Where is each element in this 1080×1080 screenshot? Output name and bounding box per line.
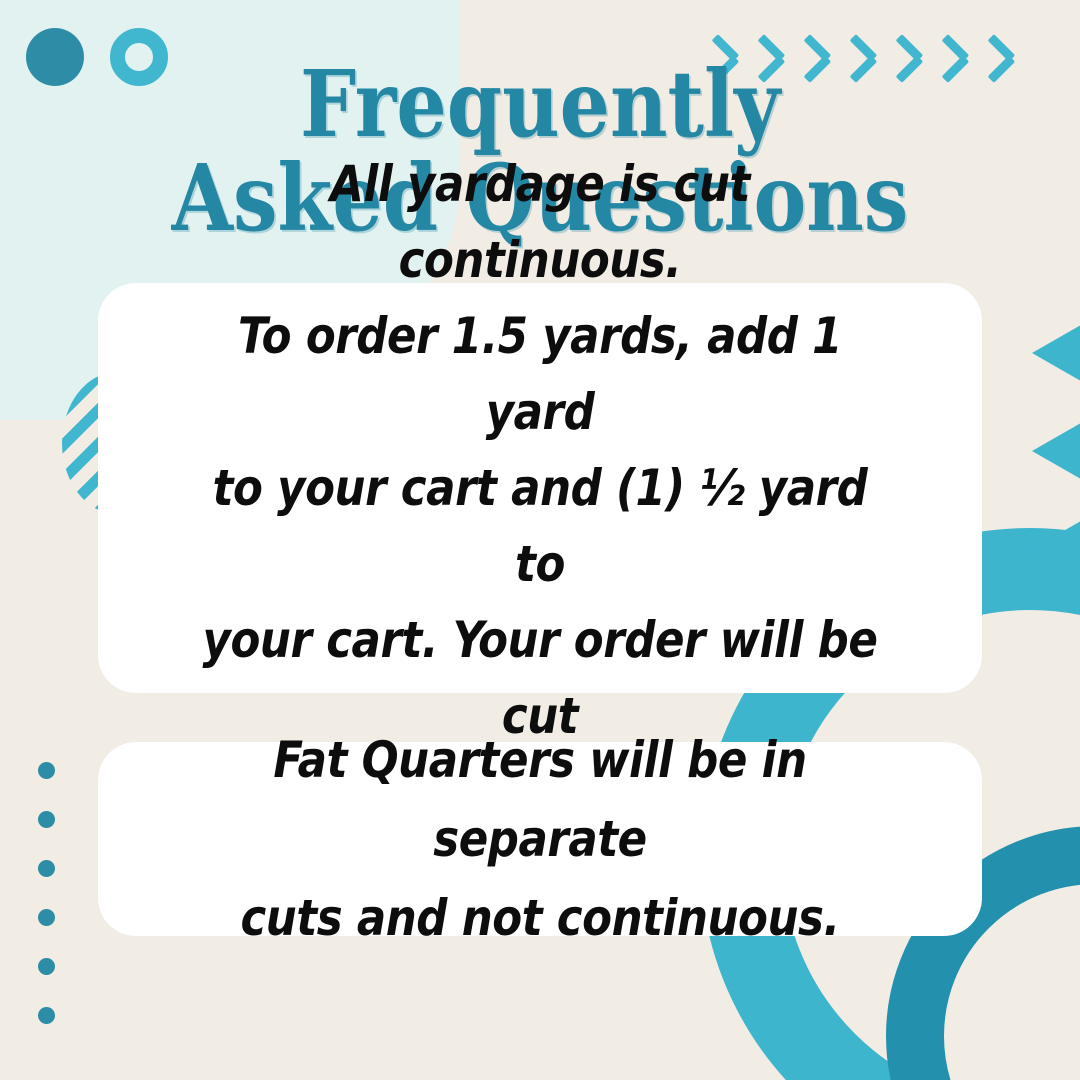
dot-column: [38, 762, 55, 1024]
triangle-left-icon: [1032, 420, 1080, 482]
dot-icon: [38, 958, 55, 975]
faq-card-1: All yardage is cut continuous. To order …: [98, 283, 982, 693]
triangle-column: [1032, 322, 1080, 580]
triangle-left-icon: [1032, 322, 1080, 384]
faq-card-2: Fat Quarters will be in separate cuts an…: [98, 742, 982, 936]
dot-icon: [38, 860, 55, 877]
dot-icon: [38, 909, 55, 926]
chevron-left-icon: [1010, 42, 1040, 94]
dot-icon: [38, 1007, 55, 1024]
faq-graphic-canvas: Frequently Asked Questions All yardage i…: [0, 0, 1080, 1080]
faq-card-2-text: Fat Quarters will be in separate cuts an…: [185, 721, 895, 958]
dot-icon: [38, 811, 55, 828]
dot-icon: [38, 762, 55, 779]
triangle-left-icon: [1032, 518, 1080, 580]
